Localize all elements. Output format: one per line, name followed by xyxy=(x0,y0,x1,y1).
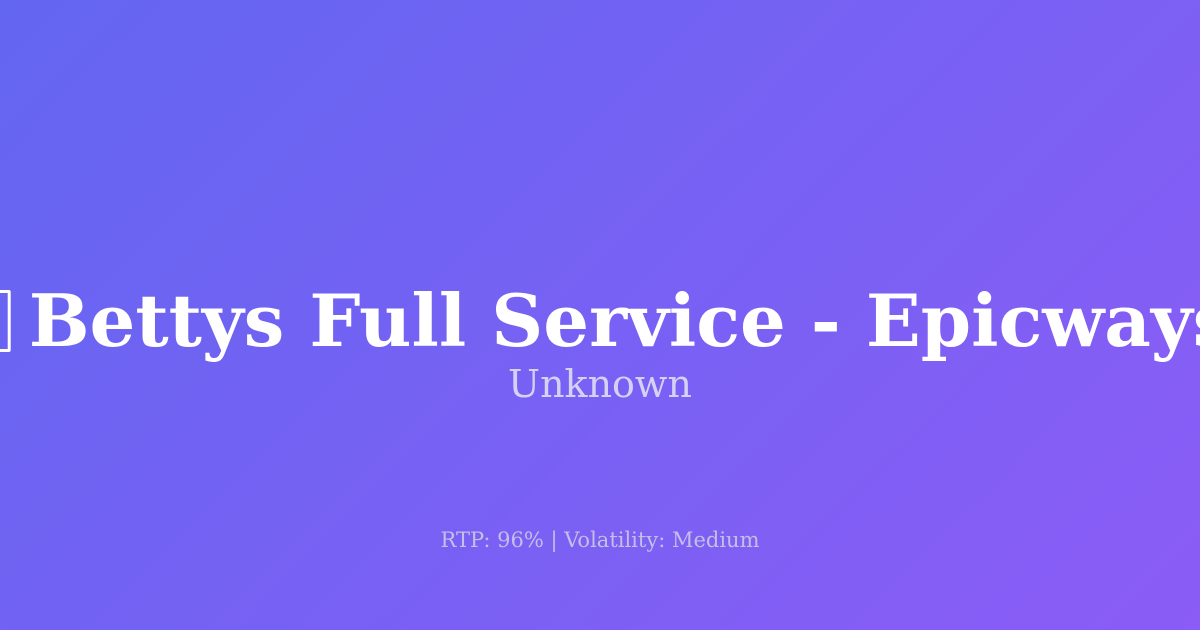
page-title: Bettys Full Service - Epicways xyxy=(29,284,1200,359)
game-stats: RTP: 96% | Volatility: Medium xyxy=(0,528,1200,553)
slot-machine-icon: F 0 xyxy=(0,290,11,352)
provider-label: Unknown xyxy=(0,362,1200,408)
og-share-card: F 0 Bettys Full Service - Epicways Unkno… xyxy=(0,0,1200,630)
